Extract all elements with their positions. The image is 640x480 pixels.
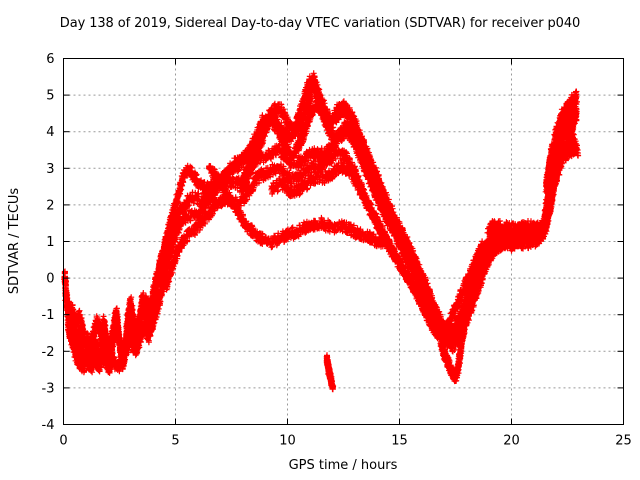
y-tick-label: -4: [42, 418, 55, 433]
y-tick-label: -3: [42, 381, 55, 396]
x-tick-label: 25: [615, 434, 632, 449]
x-tick-label: 10: [279, 434, 296, 449]
y-tick-label: 6: [46, 52, 54, 67]
x-axis-label: GPS time / hours: [289, 458, 398, 473]
y-tick-label: 3: [46, 162, 54, 177]
y-tick-label: 4: [46, 125, 54, 140]
scatter-markers: [61, 70, 581, 392]
x-tick-label: 20: [503, 434, 520, 449]
x-tick-label: 15: [391, 434, 408, 449]
x-tick-label: 5: [171, 434, 179, 449]
plot-canvas: 0510152025 -4-3-2-10123456 GPS time / ho…: [0, 0, 640, 480]
y-tick-label: 0: [46, 272, 54, 287]
y-axis-label: SDTVAR / TECUs: [7, 188, 22, 295]
y-tick-label: -1: [42, 308, 55, 323]
y-tick-label: 5: [46, 89, 54, 104]
x-tick-label: 0: [59, 434, 67, 449]
y-tick-label: -2: [42, 345, 55, 360]
data-points-layer: [61, 70, 581, 392]
y-tick-label: 1: [46, 235, 54, 250]
y-tick-label: 2: [46, 198, 54, 213]
chart-figure: Day 138 of 2019, Sidereal Day-to-day VTE…: [0, 0, 640, 480]
